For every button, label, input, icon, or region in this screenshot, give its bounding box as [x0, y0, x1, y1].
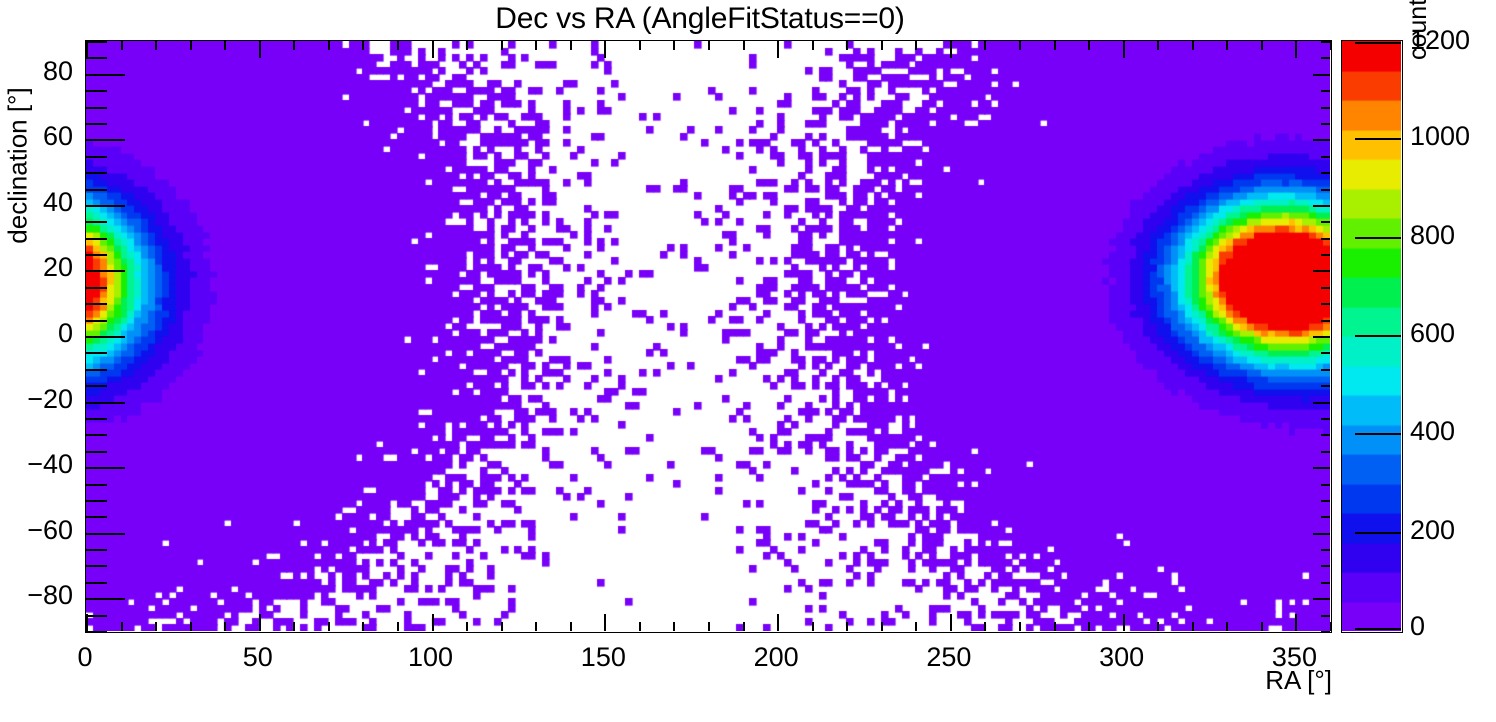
- colorbar-tick-label: 400: [1410, 416, 1455, 447]
- y-tick-label: 0: [0, 318, 73, 349]
- x-axis-title: RA [°]: [1265, 665, 1332, 696]
- colorbar-title: count: [1404, 0, 1433, 60]
- colorbar-tick-label: 1000: [1410, 121, 1470, 152]
- colorbar: [1341, 40, 1403, 633]
- x-tick-label: 250: [909, 642, 989, 673]
- y-tick-label: −80: [0, 580, 73, 611]
- x-tick-label: 50: [218, 642, 298, 673]
- plot-frame: [85, 40, 1332, 633]
- colorbar-tick-label: 200: [1410, 515, 1455, 546]
- y-axis-title: declination [°]: [3, 66, 34, 266]
- x-tick: [1330, 622, 1332, 631]
- x-tick-label: 0: [45, 642, 125, 673]
- heatmap-image: [86, 41, 1330, 631]
- colorbar-tick-label: 0: [1410, 611, 1425, 642]
- colorbar-tick-label: 600: [1410, 318, 1455, 349]
- plot-canvas-root: Dec vs RA (AngleFitStatus==0) 0501001502…: [0, 0, 1496, 722]
- y-tick: [86, 631, 107, 633]
- colorbar-tick-label: 800: [1410, 220, 1455, 251]
- chart-title: Dec vs RA (AngleFitStatus==0): [0, 2, 1400, 36]
- x-tick-label: 300: [1082, 642, 1162, 673]
- y-tick-label: −20: [0, 384, 73, 415]
- x-tick-label: 200: [736, 642, 816, 673]
- y-tick-right: [1321, 631, 1330, 633]
- x-tick-top: [1330, 41, 1332, 50]
- colorbar-gradient: [1342, 41, 1401, 631]
- y-tick-label: −60: [0, 515, 73, 546]
- y-tick-label: −40: [0, 449, 73, 480]
- x-tick-label: 100: [391, 642, 471, 673]
- x-tick-label: 150: [563, 642, 643, 673]
